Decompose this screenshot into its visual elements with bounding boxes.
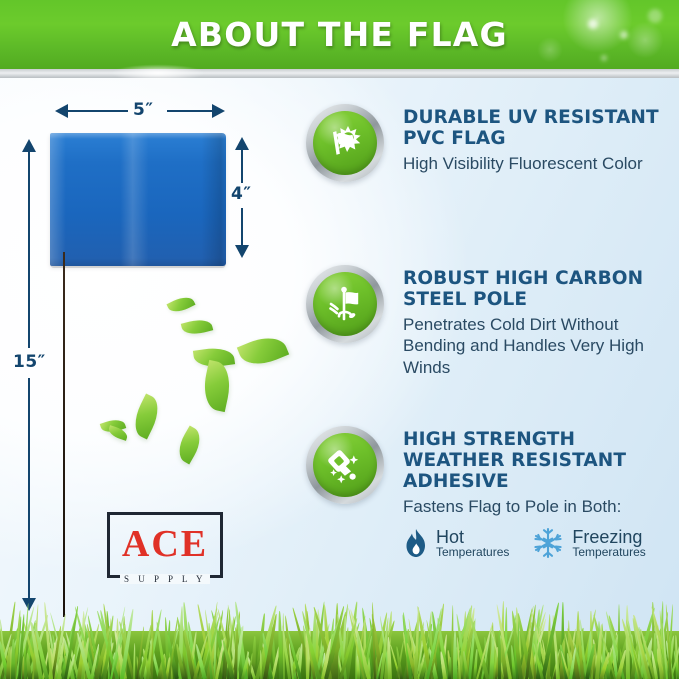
- page-title: ABOUT THE FLAG: [171, 15, 508, 54]
- feature-item-steel-pole: ROBUST HIGH CARBON STEEL POLE Penetrates…: [306, 265, 679, 378]
- leaf-icon: [237, 330, 289, 371]
- flag-sun-icon: [313, 111, 377, 175]
- feature-text-block: DURABLE UV RESISTANT PVC FLAG High Visib…: [384, 104, 679, 174]
- header-banner: ABOUT THE FLAG: [0, 0, 679, 69]
- adhesive-glue-icon: [313, 433, 377, 497]
- feature-title: DURABLE UV RESISTANT PVC FLAG: [403, 108, 679, 150]
- temperature-label: Freezing: [572, 528, 645, 546]
- infographic-canvas: ABOUT THE FLAG 5″ 4″ 15″: [0, 0, 679, 679]
- height-arrow-down-icon: [235, 245, 249, 258]
- width-dimension-line: [66, 110, 128, 112]
- bokeh-light-icon: [601, 55, 607, 61]
- feature-title: HIGH STRENGTH WEATHER RESISTANT ADHESIVE: [403, 430, 679, 493]
- feature-icon-badge: [306, 265, 384, 343]
- grass-blade: [277, 611, 282, 679]
- temperature-label: Hot: [436, 528, 509, 546]
- snowflake-icon: [531, 526, 565, 560]
- temperature-sublabel: Temperatures: [572, 546, 645, 558]
- feature-subtitle: High Visibility Fluorescent Color: [403, 153, 679, 174]
- temperature-labels: Freezing Temperatures: [572, 528, 645, 559]
- pole-dimension-line: [28, 378, 30, 600]
- logo-tagline-row: S U P P L Y: [110, 574, 220, 584]
- pole-length-label: 15″: [13, 352, 46, 372]
- flame-icon: [403, 528, 429, 558]
- flag-top-highlight: [50, 131, 226, 139]
- flag-wind-pole-icon: [313, 272, 377, 336]
- feature-text-block: HIGH STRENGTH WEATHER RESISTANT ADHESIVE…: [384, 426, 679, 560]
- height-dimension-line: [241, 150, 243, 183]
- flag-bottom-shadow: [50, 258, 226, 268]
- feature-icon-badge: [306, 104, 384, 182]
- logo-tagline-text: S U P P L Y: [120, 574, 210, 584]
- pole-dimension-line: [28, 152, 30, 348]
- bokeh-light-icon: [620, 31, 628, 39]
- width-dimension-line: [167, 110, 213, 112]
- grass-strip: [0, 593, 679, 679]
- leaf-icon: [199, 360, 234, 412]
- blue-flag-cloth: [50, 133, 226, 266]
- width-arrow-right-icon: [212, 104, 225, 118]
- temperature-row: Hot Temperatures: [403, 526, 679, 560]
- flag-pole: [63, 252, 65, 617]
- feature-title: ROBUST HIGH CARBON STEEL POLE: [403, 269, 679, 311]
- pole-arrow-up-icon: [22, 139, 36, 152]
- feature-item-adhesive: HIGH STRENGTH WEATHER RESISTANT ADHESIVE…: [306, 426, 679, 560]
- bokeh-light-icon: [648, 9, 662, 23]
- feature-icon-badge: [306, 426, 384, 504]
- leaf-icon: [181, 317, 213, 338]
- temperature-labels: Hot Temperatures: [436, 528, 509, 559]
- leaf-icon: [166, 293, 195, 316]
- banner-silver-strip: [0, 69, 679, 78]
- height-label: 4″: [231, 184, 251, 204]
- height-dimension-line: [241, 208, 243, 245]
- width-label: 5″: [133, 100, 153, 120]
- feature-subtitle: Fastens Flag to Pole in Both:: [403, 496, 679, 517]
- leaf-icon: [173, 426, 206, 465]
- feature-item-uv-resistant: DURABLE UV RESISTANT PVC FLAG High Visib…: [306, 104, 679, 182]
- temperature-sublabel: Temperatures: [436, 546, 509, 558]
- bokeh-light-icon: [588, 19, 598, 29]
- grass-blade: [11, 639, 15, 679]
- feature-subtitle: Penetrates Cold Dirt Without Bending and…: [403, 314, 679, 378]
- feature-text-block: ROBUST HIGH CARBON STEEL POLE Penetrates…: [384, 265, 679, 378]
- grass-blade: [453, 631, 457, 679]
- height-arrow-up-icon: [235, 137, 249, 150]
- leaf-icon: [128, 393, 165, 439]
- temperature-item-freezing: Freezing Temperatures: [531, 526, 645, 560]
- ace-supply-logo: ACE S U P P L Y: [107, 512, 223, 578]
- temperature-item-hot: Hot Temperatures: [403, 528, 509, 559]
- logo-brand-text: ACE: [122, 525, 208, 563]
